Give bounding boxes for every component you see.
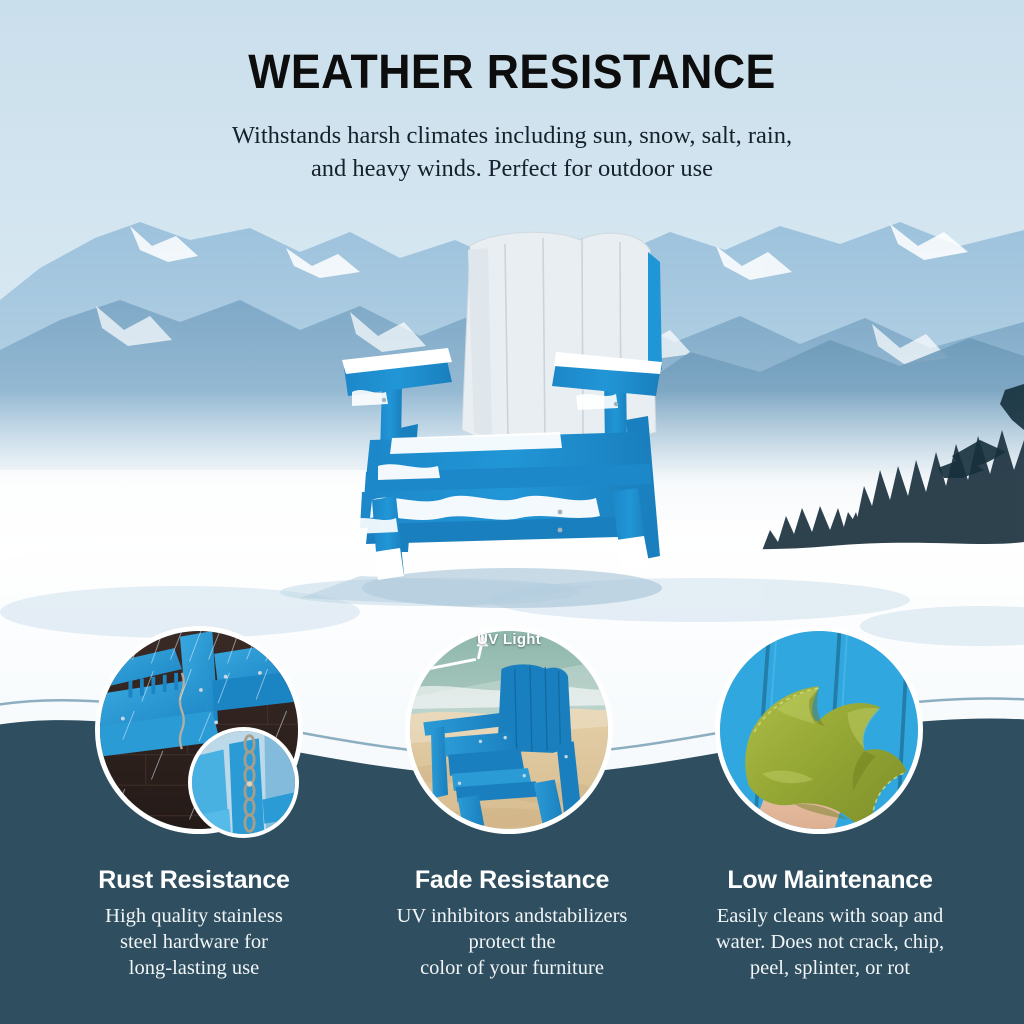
feature-image-fade-resistance bbox=[405, 626, 613, 834]
feature-body-line-3: peel, splinter, or rot bbox=[750, 957, 910, 979]
feature-caption-low-maintenance: Low Maintenance Easily cleans with soap … bbox=[665, 866, 995, 981]
feature-caption-fade-resistance: Fade Resistance UV inhibitors andstabili… bbox=[347, 866, 677, 981]
feature-body-line-2: protect the bbox=[468, 931, 555, 953]
feature-body-line-2: water. Does not crack, chip, bbox=[716, 931, 944, 953]
page-title: WEATHER RESISTANCE bbox=[36, 48, 988, 98]
feature-title: Low Maintenance bbox=[665, 866, 995, 895]
feature-caption-rust-resistance: Rust Resistance High quality stainless s… bbox=[29, 866, 359, 981]
feature-body: UV inhibitors andstabilizers protect the… bbox=[347, 903, 677, 981]
subtitle-line-1: Withstands harsh climates including sun,… bbox=[232, 122, 792, 149]
feature-body-line-1: High quality stainless bbox=[105, 905, 283, 927]
infographic-page: WEATHER RESISTANCE Withstands harsh clim… bbox=[0, 0, 1024, 1024]
page-subtitle: Withstands harsh climates including sun,… bbox=[0, 120, 1024, 185]
feature-body-line-1: Easily cleans with soap and bbox=[717, 905, 944, 927]
feature-body-line-1: UV inhibitors andstabilizers bbox=[397, 905, 628, 927]
feature-body-line-3: color of your furniture bbox=[420, 957, 604, 979]
feature-image-low-maintenance bbox=[715, 626, 923, 834]
subtitle-line-2: and heavy winds. Perfect for outdoor use bbox=[311, 155, 713, 182]
feature-body-line-2: steel hardware for bbox=[120, 931, 268, 953]
feature-body: Easily cleans with soap and water. Does … bbox=[665, 903, 995, 981]
feature-inset-chain-hardware bbox=[188, 727, 299, 838]
feature-title: Fade Resistance bbox=[347, 866, 677, 895]
uv-light-callout-label: UV Light bbox=[477, 631, 541, 648]
feature-body-line-3: long-lasting use bbox=[129, 957, 259, 979]
feature-body: High quality stainless steel hardware fo… bbox=[29, 903, 359, 981]
feature-title: Rust Resistance bbox=[29, 866, 359, 895]
